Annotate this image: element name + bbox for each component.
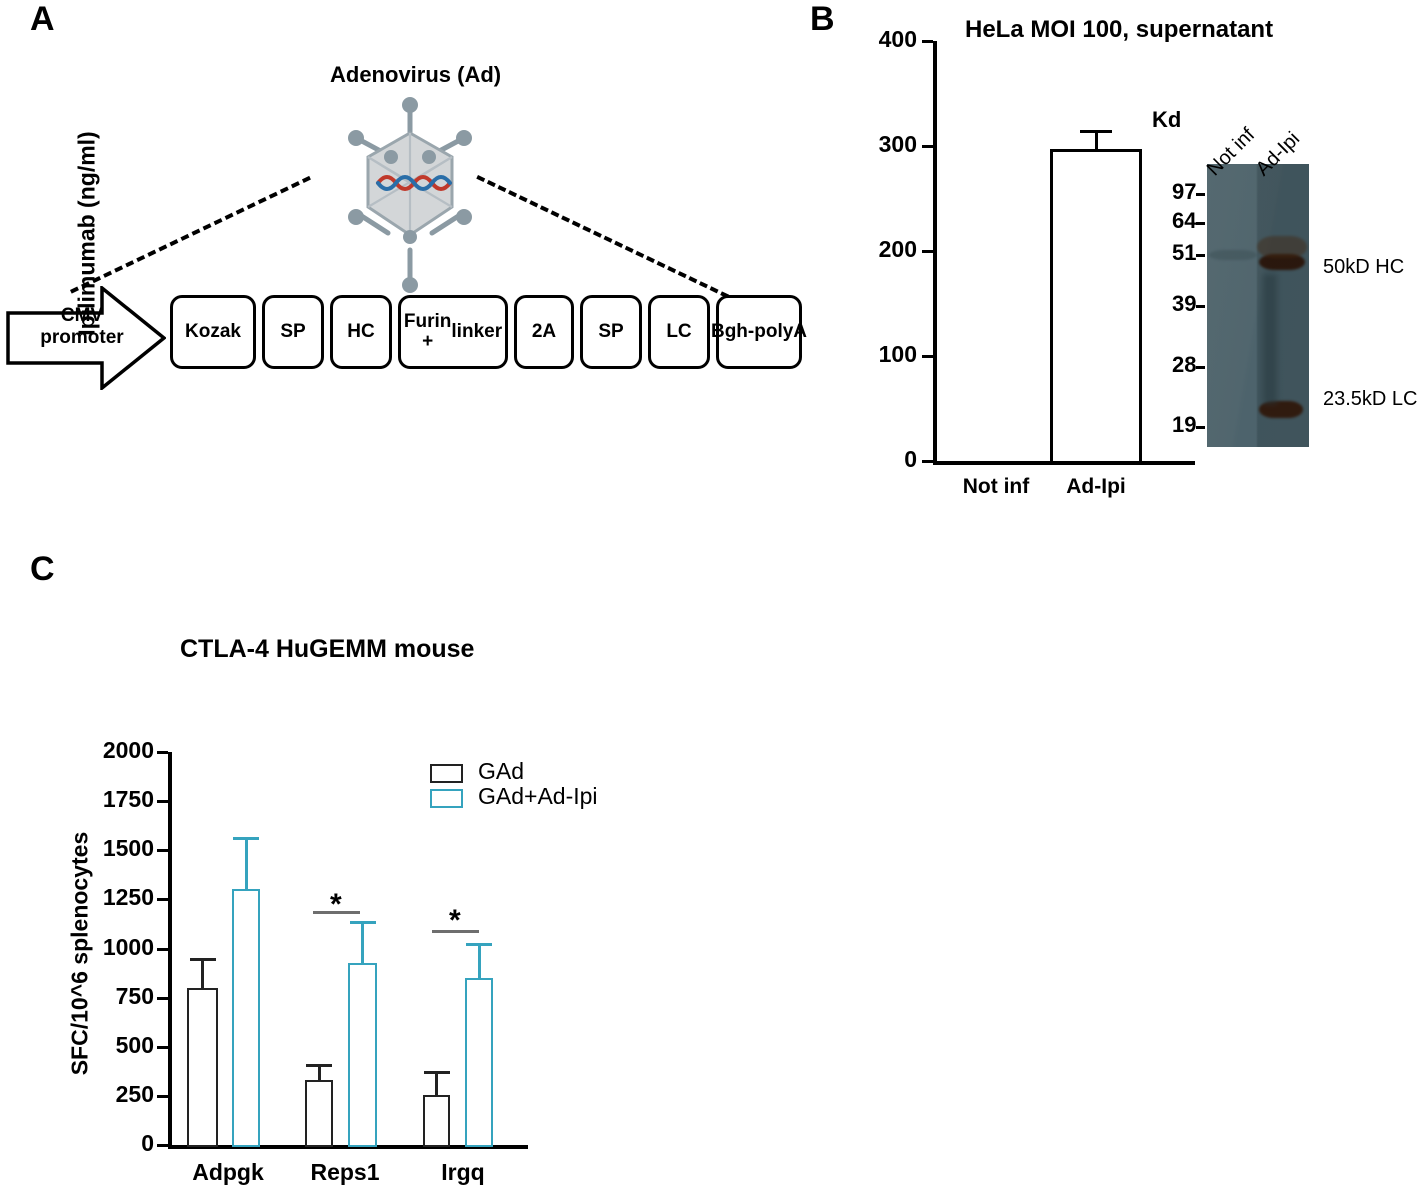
blot-marker-tick	[1196, 426, 1205, 429]
panel-c-bar-irgq-gad-ad-ipi	[465, 978, 493, 1147]
panel-c-error-cap	[424, 1071, 450, 1074]
panel-c-bar-adpgk-gad-ad-ipi	[232, 889, 260, 1147]
panel-c-bar-reps1-gad	[305, 1080, 333, 1147]
gene-box-label: Kozak	[185, 322, 241, 342]
panel-c-y-tick	[157, 898, 168, 901]
panel-b-y-tick	[922, 40, 933, 43]
blot-marker-tick	[1196, 254, 1205, 257]
panel-c-y-tick-label: 1500	[62, 835, 154, 862]
panel-c-y-tick-label: 1250	[62, 884, 154, 911]
gene-box-bgh-polya: Bgh-polyA	[716, 295, 802, 369]
panel-c-y-axis	[168, 752, 172, 1149]
gene-cassette: KozakSPHCFurin +linker2ASPLCBgh-polyA	[170, 295, 808, 369]
gene-box-hc: HC	[330, 295, 392, 369]
panel-c-y-tick-label: 750	[62, 983, 154, 1010]
blot-faint-band-40kd-lane1	[1209, 250, 1257, 260]
panel-b-y-tick	[922, 460, 933, 463]
panel-c-error-bar	[245, 837, 248, 888]
blot-marker-28kd: 28	[1172, 352, 1196, 378]
gene-box-furin-linker: Furin +linker	[398, 295, 508, 369]
panel-b-y-tick-label: 400	[845, 26, 917, 53]
gene-box-label: HC	[347, 322, 374, 342]
panel-c-y-tick-label: 0	[62, 1130, 154, 1157]
blot-marker-64kd: 64	[1172, 208, 1196, 234]
leader-line-right	[476, 175, 739, 303]
gene-box-label: LC	[666, 322, 691, 342]
panel-c-y-tick-label: 250	[62, 1081, 154, 1108]
panel-c-y-tick-label: 2000	[62, 737, 154, 764]
blot-marker-tick	[1196, 366, 1205, 369]
blot-smear-lane2	[1263, 274, 1277, 404]
blot-marker-39kd: 39	[1172, 291, 1196, 317]
panel-c-plot-area: 025050075010001250150017502000AdpgkReps1…	[0, 540, 640, 1184]
gene-box-label: SP	[280, 322, 305, 342]
blot-marker-tick	[1196, 222, 1205, 225]
panel-b-y-tick-label: 0	[845, 446, 917, 473]
blot-band-label-lc: 23.5kD LC	[1323, 388, 1418, 411]
gene-box-sp: SP	[580, 295, 642, 369]
panel-c-y-tick	[157, 948, 168, 951]
panel-c-y-tick-label: 500	[62, 1032, 154, 1059]
panel-b-y-axis	[933, 41, 937, 464]
gene-box-lc: LC	[648, 295, 710, 369]
gene-box-label: 2A	[532, 322, 556, 342]
legend-swatch-gad-ad-ipi	[430, 789, 463, 808]
blot-marker-tick	[1196, 193, 1205, 196]
panel-c-y-tick	[157, 997, 168, 1000]
panel-c-y-tick	[157, 1046, 168, 1049]
panel-b-plot-area: 0100200300400Not infAd-Ipi	[800, 0, 1200, 510]
western-blot-image	[1207, 164, 1309, 447]
panel-b-bar-ad-ipi	[1050, 149, 1142, 464]
adenovirus-icon	[330, 95, 490, 295]
gene-box-label: SP	[598, 322, 623, 342]
panel-c-y-tick-label: 1750	[62, 786, 154, 813]
panel-b-y-tick	[922, 250, 933, 253]
blot-marker-19kd: 19	[1172, 412, 1196, 438]
gene-box-label: Bgh-	[711, 322, 754, 342]
panel-c-error-bar	[435, 1071, 438, 1096]
blot-band-label-hc: 50kD HC	[1323, 256, 1404, 279]
blot-band-50kd-halo	[1257, 236, 1307, 258]
panel-c-y-tick	[157, 751, 168, 754]
legend-label-gad-ad-ipi: GAd+Ad-Ipi	[478, 783, 598, 810]
panel-a-letter: A	[30, 2, 55, 36]
panel-c-y-tick	[157, 849, 168, 852]
panel-c-error-bar	[361, 921, 364, 963]
blot-band-23kd	[1259, 401, 1303, 418]
panel-c-error-cap	[233, 837, 259, 840]
panel-c-bar-reps1-gad-ad-ipi	[348, 963, 377, 1147]
panel-c-y-tick	[157, 1095, 168, 1098]
panel-c-error-cap	[190, 958, 216, 961]
gene-box-2a: 2A	[514, 295, 574, 369]
panel-c-error-cap	[350, 921, 376, 924]
panel-b-y-tick-label: 200	[845, 236, 917, 263]
blot-marker-51kd: 51	[1172, 240, 1196, 266]
panel-c-error-bar	[478, 943, 481, 978]
panel-b-y-tick	[922, 145, 933, 148]
gene-box-label: linker	[451, 322, 502, 342]
significance-asterisk-2: *	[449, 906, 461, 936]
panel-b-x-tick-label-ad-ipi: Ad-Ipi	[1032, 475, 1160, 499]
blot-marker-97kd: 97	[1172, 179, 1196, 205]
panel-b-y-tick-label: 300	[845, 131, 917, 158]
panel-a: A Adenovirus (Ad)	[0, 0, 800, 430]
panel-b-y-axis-label: Ipilimumab (ng/ml)	[74, 84, 101, 384]
blot-kd-header: Kd	[1152, 107, 1181, 133]
panel-c-x-tick-label-irgq: Irgq	[393, 1159, 533, 1186]
legend-swatch-gad	[430, 764, 463, 783]
panel-b-y-tick	[922, 355, 933, 358]
adenovirus-title: Adenovirus (Ad)	[330, 62, 501, 88]
blot-marker-tick	[1196, 305, 1205, 308]
panel-b-error-cap	[1080, 130, 1112, 133]
legend-label-gad: GAd	[478, 758, 524, 785]
panel-c-bar-irgq-gad	[423, 1095, 450, 1147]
gene-box-kozak: Kozak	[170, 295, 256, 369]
panel-c-error-cap	[306, 1064, 332, 1067]
panel-c-y-tick-label: 1000	[62, 934, 154, 961]
gene-box-sp: SP	[262, 295, 324, 369]
panel-c-y-tick	[157, 1144, 168, 1147]
panel-c-bar-adpgk-gad	[187, 988, 218, 1147]
significance-asterisk-1: *	[330, 890, 342, 920]
leader-line-left	[70, 176, 311, 294]
panel-c-error-cap	[466, 943, 492, 946]
panel-c-y-tick	[157, 800, 168, 803]
panel-c-error-bar	[201, 958, 204, 987]
blot-band-50kd	[1259, 254, 1305, 270]
panel-b-y-tick-label: 100	[845, 341, 917, 368]
gene-box-label: Furin +	[404, 312, 452, 352]
